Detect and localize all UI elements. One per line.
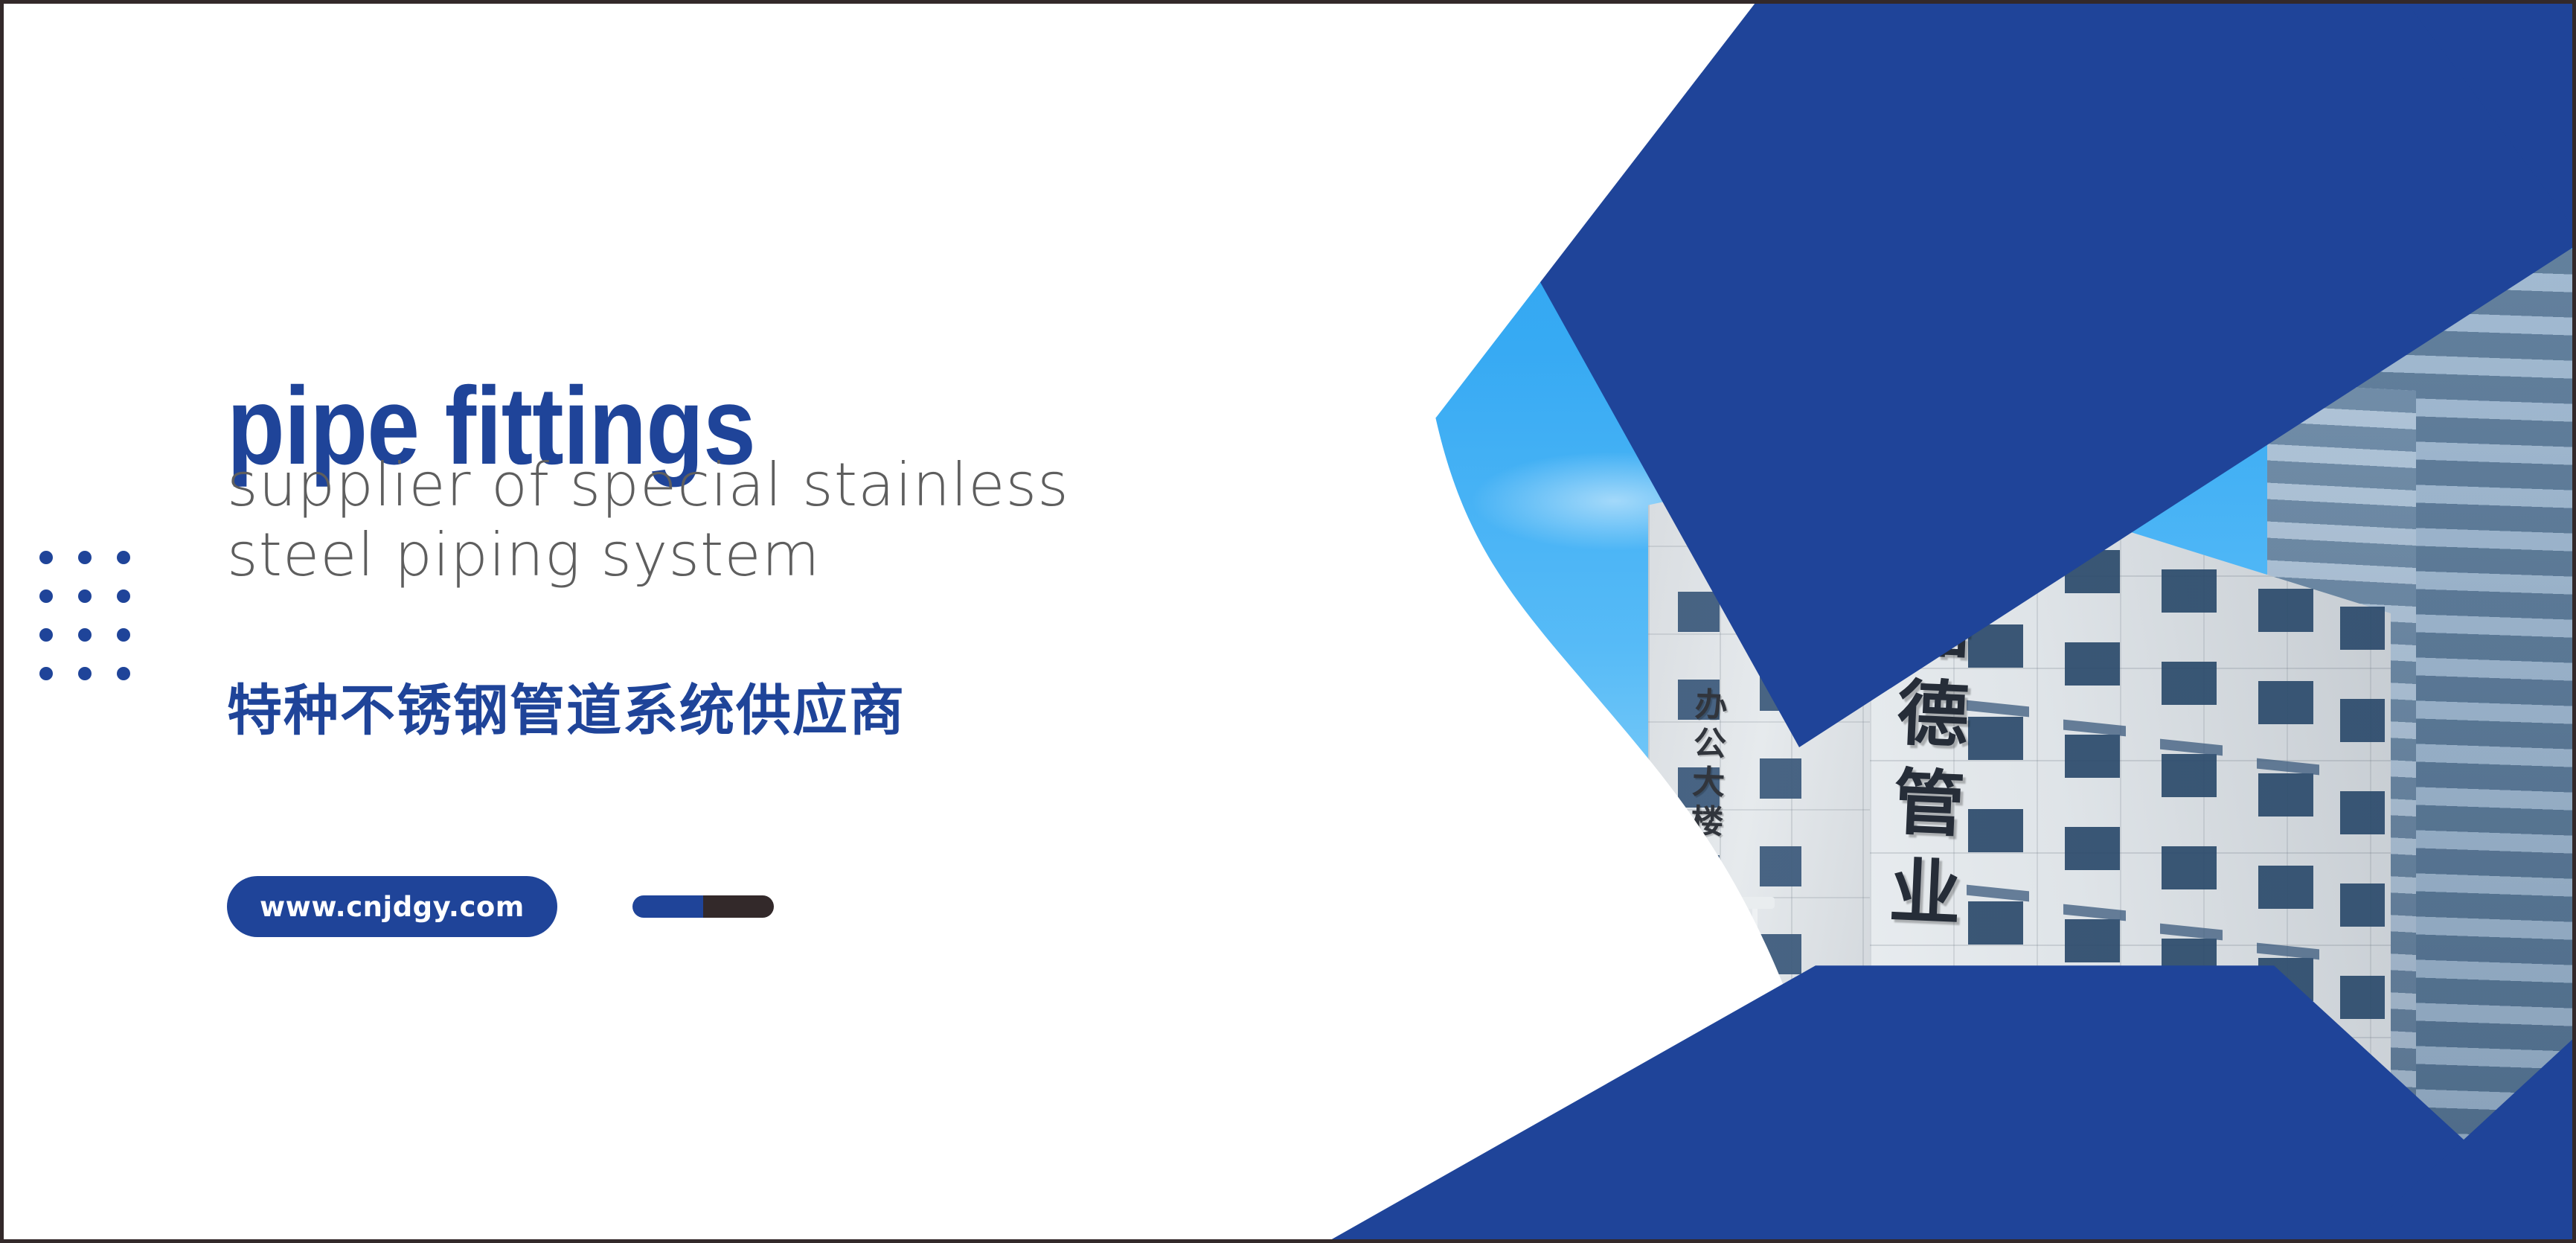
company-logo-subtext: 楠江 xyxy=(1912,543,1967,573)
grid-dot xyxy=(117,551,130,564)
banner-root: 丩 楠江 嘉 德 管 业 办 公 大 楼 1号门 xyxy=(0,0,2576,1243)
office-sign-char: 办 xyxy=(1694,688,1728,723)
dot-grid-decoration xyxy=(39,551,130,680)
text-content: pipe fittings supplier of special stainl… xyxy=(4,4,1417,1243)
grid-dot xyxy=(78,589,92,603)
company-logo-mark: 丩 xyxy=(1907,456,1979,528)
grid-dot xyxy=(117,628,130,642)
grid-dot xyxy=(78,667,92,680)
accent-bar-decoration xyxy=(632,895,774,918)
foreground-pavement xyxy=(1403,1165,2576,1243)
grid-dot xyxy=(39,589,53,603)
page-subtitle: supplier of special stainless steel pipi… xyxy=(227,450,1069,591)
grid-dot xyxy=(78,628,92,642)
hero-photo: 丩 楠江 嘉 德 管 业 办 公 大 楼 1号门 xyxy=(1403,4,2576,1243)
grid-dot xyxy=(117,667,130,680)
grid-dot xyxy=(78,551,92,564)
grid-dot xyxy=(39,667,53,680)
website-button[interactable]: www.cnjdgy.com xyxy=(227,876,557,937)
sign-char: 业 xyxy=(1888,856,1962,930)
sign-char: 嘉 xyxy=(1900,588,1974,662)
office-sign-char: 公 xyxy=(1693,726,1727,762)
chinese-tagline: 特种不锈钢管道系统供应商 xyxy=(227,666,906,746)
grid-dot xyxy=(117,589,130,603)
office-sign-char: 楼 xyxy=(1690,805,1724,840)
grid-dot xyxy=(39,628,53,642)
sign-char: 德 xyxy=(1896,677,1970,752)
grid-dot xyxy=(39,551,53,564)
office-sign-char: 大 xyxy=(1691,766,1726,802)
building-office-sign: 办 公 大 楼 xyxy=(1690,688,1728,840)
sign-char: 管 xyxy=(1891,767,1966,841)
